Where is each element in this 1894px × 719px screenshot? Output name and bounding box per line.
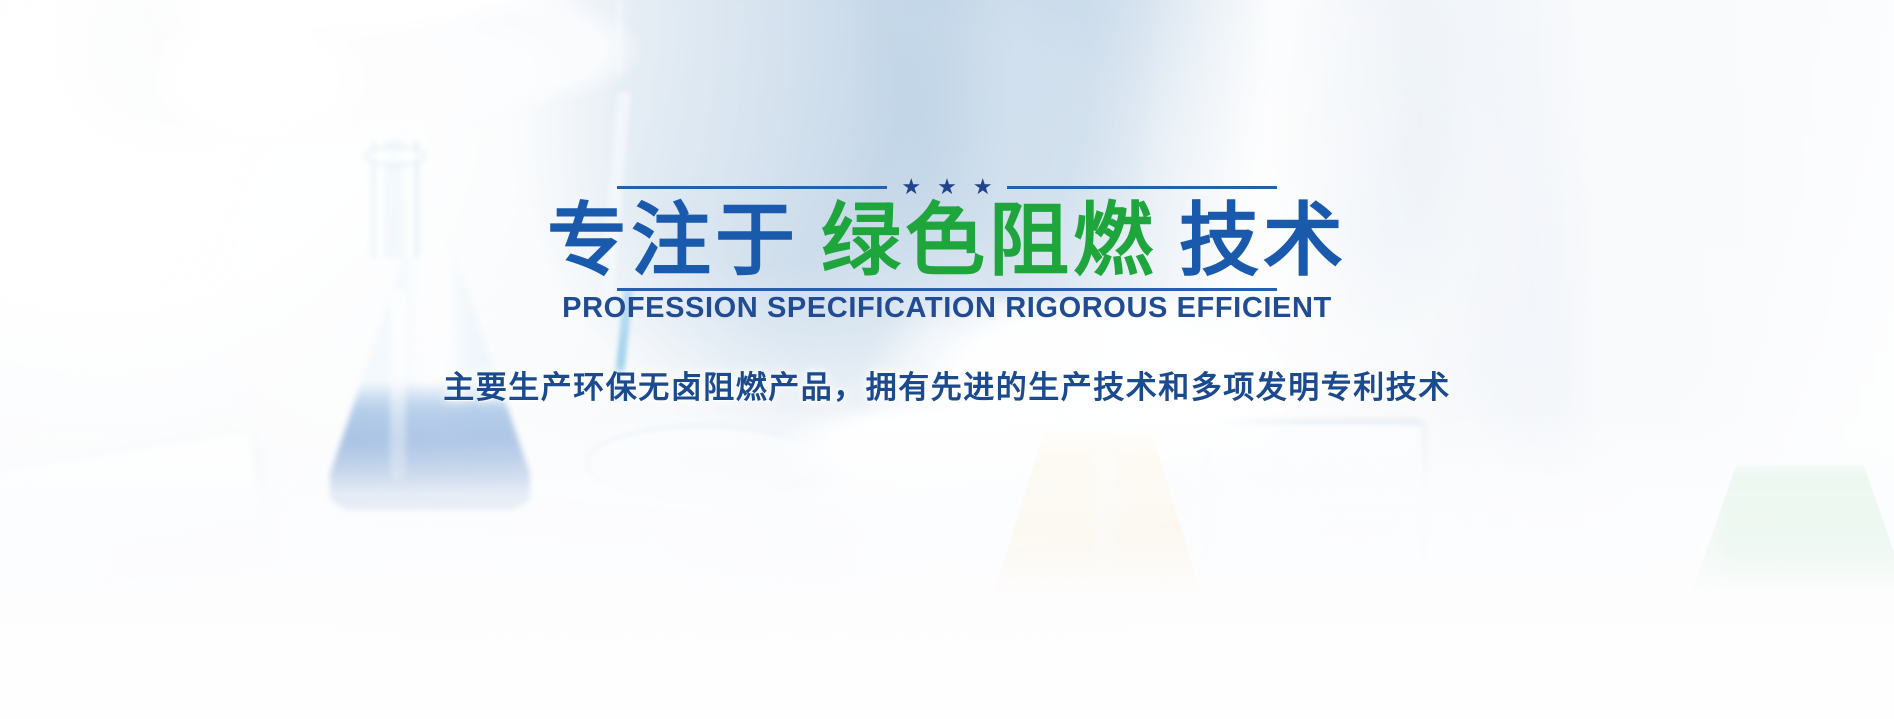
photo-depth-of-field xyxy=(0,0,1894,719)
hero-banner: ★ ★ ★ 专注于绿色阻燃技术 PROFESSION SPECIFICATION… xyxy=(0,0,1894,719)
background-photo xyxy=(0,0,1894,719)
